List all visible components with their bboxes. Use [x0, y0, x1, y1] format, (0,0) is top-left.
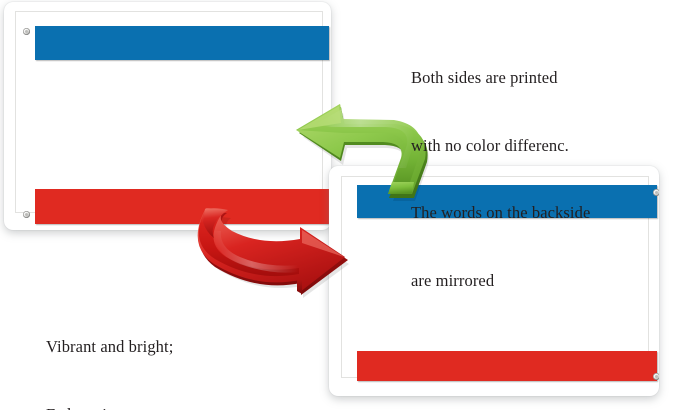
caption-line: are mirrored: [411, 270, 590, 293]
front-flag-red-band: [35, 189, 329, 224]
front-flag-sheet: [15, 11, 323, 213]
front-side-flag-card: [4, 2, 331, 230]
front-flag-grommet-top: [23, 28, 30, 35]
caption-line: Fade resistance;: [46, 404, 224, 410]
product-feature-graphic: Both sides are printed with no color dif…: [0, 0, 679, 410]
back-flag-grommet-top: [653, 189, 659, 196]
front-flag-grommet-bottom: [23, 211, 30, 218]
back-flag-red-band: [357, 351, 657, 381]
front-flag-inner: [4, 2, 331, 230]
back-flag-grommet-bottom: [653, 373, 659, 380]
material-features-caption: Vibrant and bright; Fade resistance; Dur…: [46, 291, 224, 410]
caption-line: with no color differenc.: [411, 135, 590, 158]
caption-line: Both sides are printed: [411, 67, 590, 90]
front-flag-blue-band: [35, 26, 329, 60]
caption-line: Vibrant and bright;: [46, 336, 224, 359]
both-sides-printed-caption: Both sides are printed with no color dif…: [411, 22, 590, 337]
caption-line: The words on the backside: [411, 202, 590, 225]
